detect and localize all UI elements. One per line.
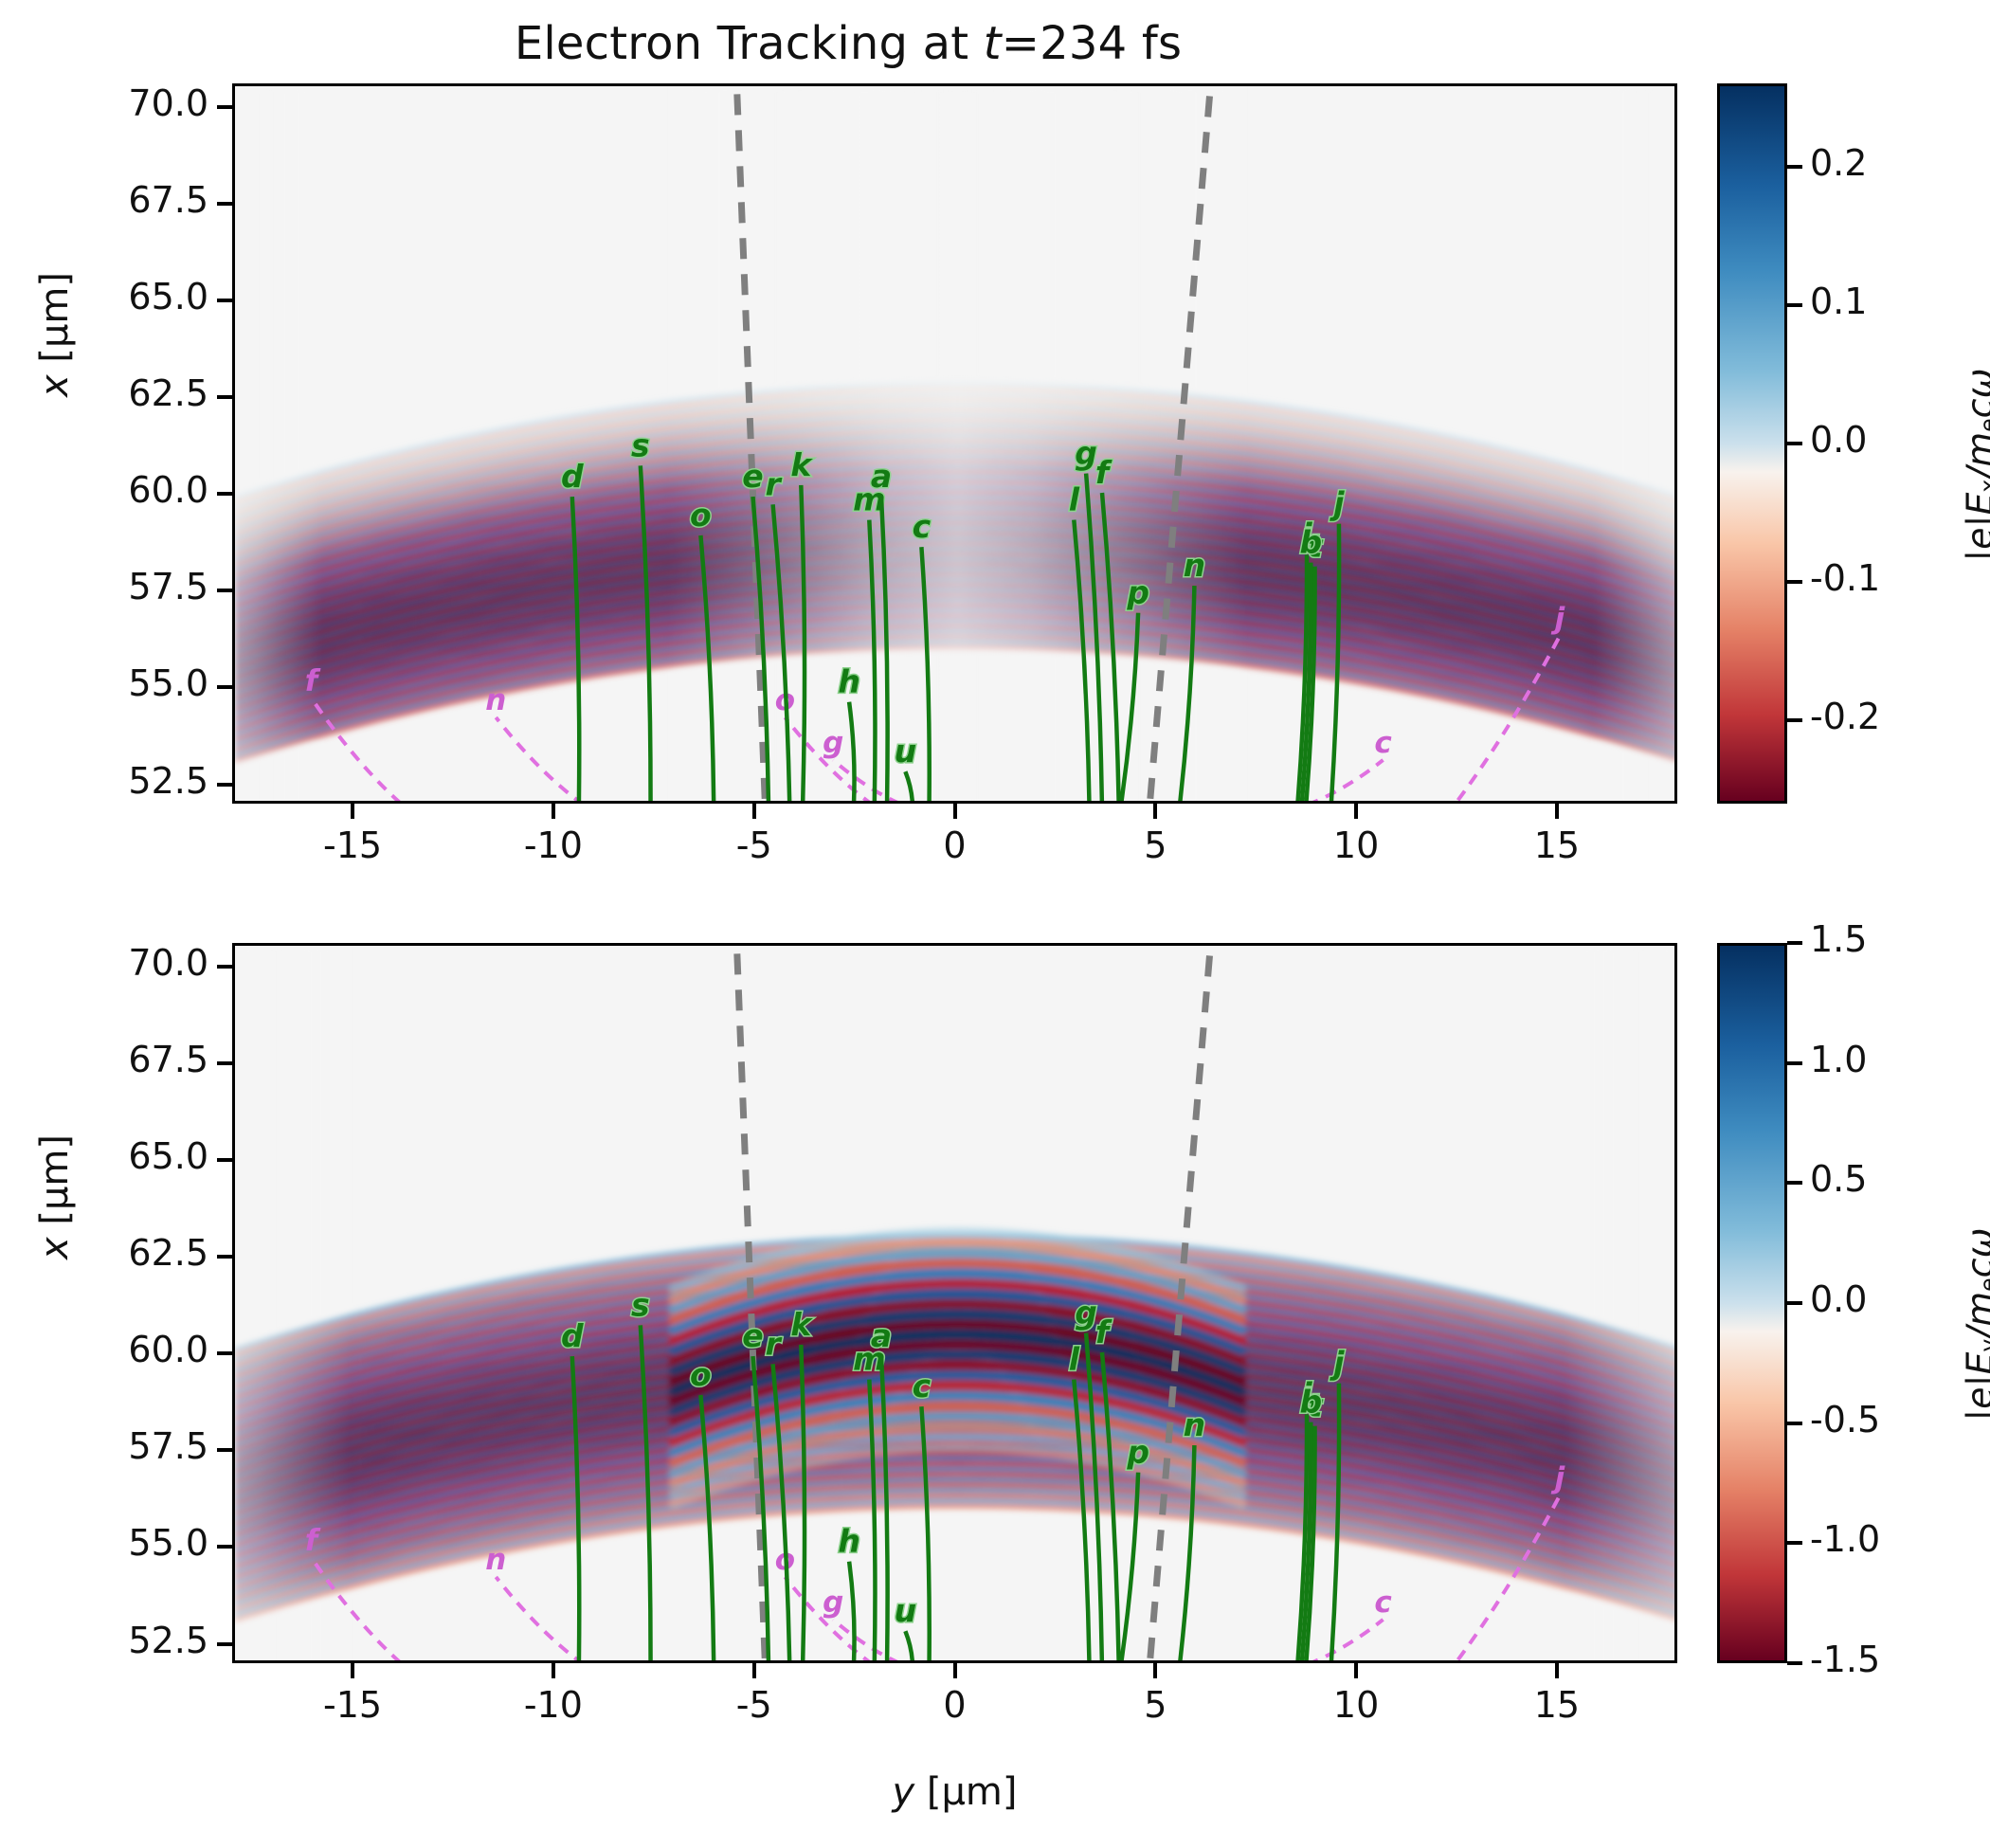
- y-tick-mark: [217, 1255, 232, 1259]
- x-tick-mark: [1354, 804, 1358, 819]
- electron-track-label: n: [1184, 547, 1206, 584]
- x-tick-label: 10: [1271, 1684, 1441, 1726]
- y-tick-label: 70.0: [0, 942, 208, 984]
- colorbar-tick-mark: [1787, 1181, 1802, 1185]
- x-tick-mark: [351, 804, 354, 819]
- y-tick-mark: [217, 299, 232, 302]
- title-variable: t: [984, 17, 1002, 70]
- x-tick-label: -15: [267, 824, 438, 866]
- x-tick-label: -10: [468, 824, 639, 866]
- y-tick-label: 55.0: [0, 662, 208, 704]
- y-tick-mark: [217, 1061, 232, 1065]
- x-tick-mark: [552, 804, 555, 819]
- y-tick-label: 65.0: [0, 1135, 208, 1177]
- colorbar-tick-label: -0.2: [1810, 696, 1990, 737]
- electron-track-label: k: [790, 446, 813, 483]
- y-tick-mark: [217, 1351, 232, 1355]
- x-tick-label: 15: [1472, 824, 1642, 866]
- y-tick-mark: [217, 395, 232, 399]
- y-tick-label: 57.5: [0, 1425, 208, 1467]
- x-tick-mark: [1153, 1663, 1157, 1678]
- y-tick-label: 60.0: [0, 1329, 208, 1370]
- top-field-map: fnogcjdsoerkmaclgfpnitbjhu: [235, 86, 1677, 804]
- y-tick-label: 67.5: [0, 179, 208, 221]
- colorbar-tick-mark: [1787, 1661, 1802, 1665]
- y-tick-label: 57.5: [0, 566, 208, 607]
- x-tick-mark: [752, 1663, 756, 1678]
- electron-track-label: e: [742, 458, 763, 495]
- electron-track-label: h: [838, 663, 860, 700]
- colorbar-tick-mark: [1787, 580, 1802, 584]
- colorbar-tick-mark: [1787, 1422, 1802, 1425]
- x-tick-label: -5: [669, 824, 840, 866]
- y-tick-mark: [217, 202, 232, 206]
- y-tick-mark: [217, 1448, 232, 1452]
- ion-track-label: c: [1374, 726, 1392, 760]
- colorbar-tick-label: 1.0: [1810, 1039, 1990, 1080]
- electron-track-label: a: [871, 458, 892, 495]
- figure-title: Electron Tracking at t=234 fs: [0, 17, 1696, 70]
- colorbar-tick-mark: [1787, 1541, 1802, 1545]
- x-tick-mark: [1555, 1663, 1559, 1678]
- y-tick-label: 60.0: [0, 469, 208, 511]
- x-tick-label: -15: [267, 1684, 438, 1726]
- y-tick-label: 67.5: [0, 1039, 208, 1080]
- x-tick-label: 0: [870, 1684, 1040, 1726]
- electron-track-label: n: [1184, 1406, 1206, 1443]
- electron-track-label: p: [1126, 574, 1149, 611]
- colorbar-tick-label: 0.2: [1810, 142, 1990, 184]
- electron-track-label: b: [1299, 524, 1322, 561]
- y-tick-mark: [217, 589, 232, 592]
- electron-track-label: r: [765, 465, 782, 502]
- electron-track-label: a: [871, 1317, 892, 1354]
- electron-track-label: c: [913, 1368, 932, 1404]
- ion-track-label: n: [485, 1543, 506, 1577]
- colorbar-tick-label: 1.5: [1810, 918, 1990, 960]
- electron-track-label: l: [1069, 1341, 1080, 1378]
- colorbar-tick-label: -1.5: [1810, 1639, 1990, 1680]
- electron-track-label: o: [690, 1356, 712, 1393]
- electron-track-label: b: [1299, 1384, 1322, 1421]
- electron-track-label: d: [561, 1317, 584, 1354]
- top-plot-panel: fnogcjdsoerkmaclgfpnitbjhu: [232, 83, 1677, 804]
- top-colorbar-label: |e|Ex/mecω: [1959, 228, 1990, 702]
- y-tick-mark: [217, 965, 232, 969]
- field-envelope: [235, 86, 1677, 804]
- electron-track-label: u: [895, 1592, 917, 1629]
- x-tick-mark: [1354, 1663, 1358, 1678]
- title-equals: =234 fs: [1002, 17, 1182, 70]
- electron-track-label: p: [1126, 1434, 1149, 1471]
- y-tick-mark: [217, 783, 232, 787]
- y-tick-mark: [217, 1642, 232, 1646]
- figure-root: Electron Tracking at t=234 fs x [μm] fno…: [0, 0, 1990, 1848]
- bottom-colorbar-label: |e|Ey/mecω: [1959, 1088, 1990, 1562]
- y-tick-mark: [217, 105, 232, 109]
- bottom-x-axis-label: y [μm]: [232, 1770, 1677, 1814]
- electron-track-label: l: [1069, 481, 1080, 518]
- colorbar-tick-mark: [1787, 1061, 1802, 1065]
- y-tick-label: 62.5: [0, 1232, 208, 1274]
- y-tick-label: 62.5: [0, 372, 208, 414]
- bottom-field-map: fnogcjdsoerkmaclgfpnitbjhu: [235, 946, 1677, 1663]
- title-prefix: Electron Tracking at: [515, 17, 984, 70]
- x-tick-mark: [552, 1663, 555, 1678]
- electron-track-label: u: [895, 733, 917, 770]
- x-tick-label: 5: [1070, 1684, 1240, 1726]
- x-tick-mark: [1153, 804, 1157, 819]
- ion-track-label: n: [485, 683, 506, 717]
- x-tick-label: -5: [669, 1684, 840, 1726]
- y-tick-label: 70.0: [0, 82, 208, 124]
- x-tick-mark: [953, 1663, 957, 1678]
- y-tick-mark: [217, 492, 232, 496]
- colorbar-tick-mark: [1787, 303, 1802, 307]
- x-tick-label: 5: [1070, 824, 1240, 866]
- ion-track-label: c: [1374, 1585, 1392, 1620]
- y-tick-mark: [217, 685, 232, 689]
- x-tick-label: 10: [1271, 824, 1441, 866]
- x-tick-label: 15: [1472, 1684, 1642, 1726]
- x-tick-mark: [351, 1663, 354, 1678]
- y-tick-label: 52.5: [0, 760, 208, 802]
- colorbar-tick-mark: [1787, 718, 1802, 722]
- y-tick-label: 55.0: [0, 1522, 208, 1564]
- electron-track-label: g: [1075, 435, 1097, 472]
- ion-track-label: g: [823, 726, 843, 760]
- y-tick-mark: [217, 1545, 232, 1549]
- bottom-colorbar: [1717, 943, 1787, 1663]
- x-tick-mark: [752, 804, 756, 819]
- electron-track-label: s: [631, 1286, 650, 1323]
- x-tick-mark: [953, 804, 957, 819]
- x-tick-label: 0: [870, 824, 1040, 866]
- electron-track-label: g: [1075, 1295, 1097, 1332]
- bottom-plot-panel: fnogcjdsoerkmaclgfpnitbjhu: [232, 943, 1677, 1663]
- ion-track-label: g: [823, 1585, 843, 1620]
- y-tick-label: 52.5: [0, 1620, 208, 1661]
- electron-track-label: s: [631, 426, 650, 463]
- electron-track-label: r: [765, 1325, 782, 1362]
- electron-track-label: e: [742, 1317, 763, 1354]
- electron-track-label: k: [790, 1306, 813, 1343]
- x-tick-mark: [1555, 804, 1559, 819]
- y-tick-mark: [217, 1158, 232, 1162]
- colorbar-tick-mark: [1787, 1301, 1802, 1305]
- colorbar-tick-mark: [1787, 941, 1802, 945]
- colorbar-tick-mark: [1787, 165, 1802, 169]
- electron-track-label: h: [838, 1523, 860, 1560]
- electron-track-label: c: [913, 508, 932, 545]
- y-tick-label: 65.0: [0, 276, 208, 317]
- electron-track-label: o: [690, 497, 712, 534]
- colorbar-tick-mark: [1787, 442, 1802, 445]
- top-colorbar: [1717, 83, 1787, 804]
- x-tick-label: -10: [468, 1684, 639, 1726]
- electron-track-label: d: [561, 458, 584, 495]
